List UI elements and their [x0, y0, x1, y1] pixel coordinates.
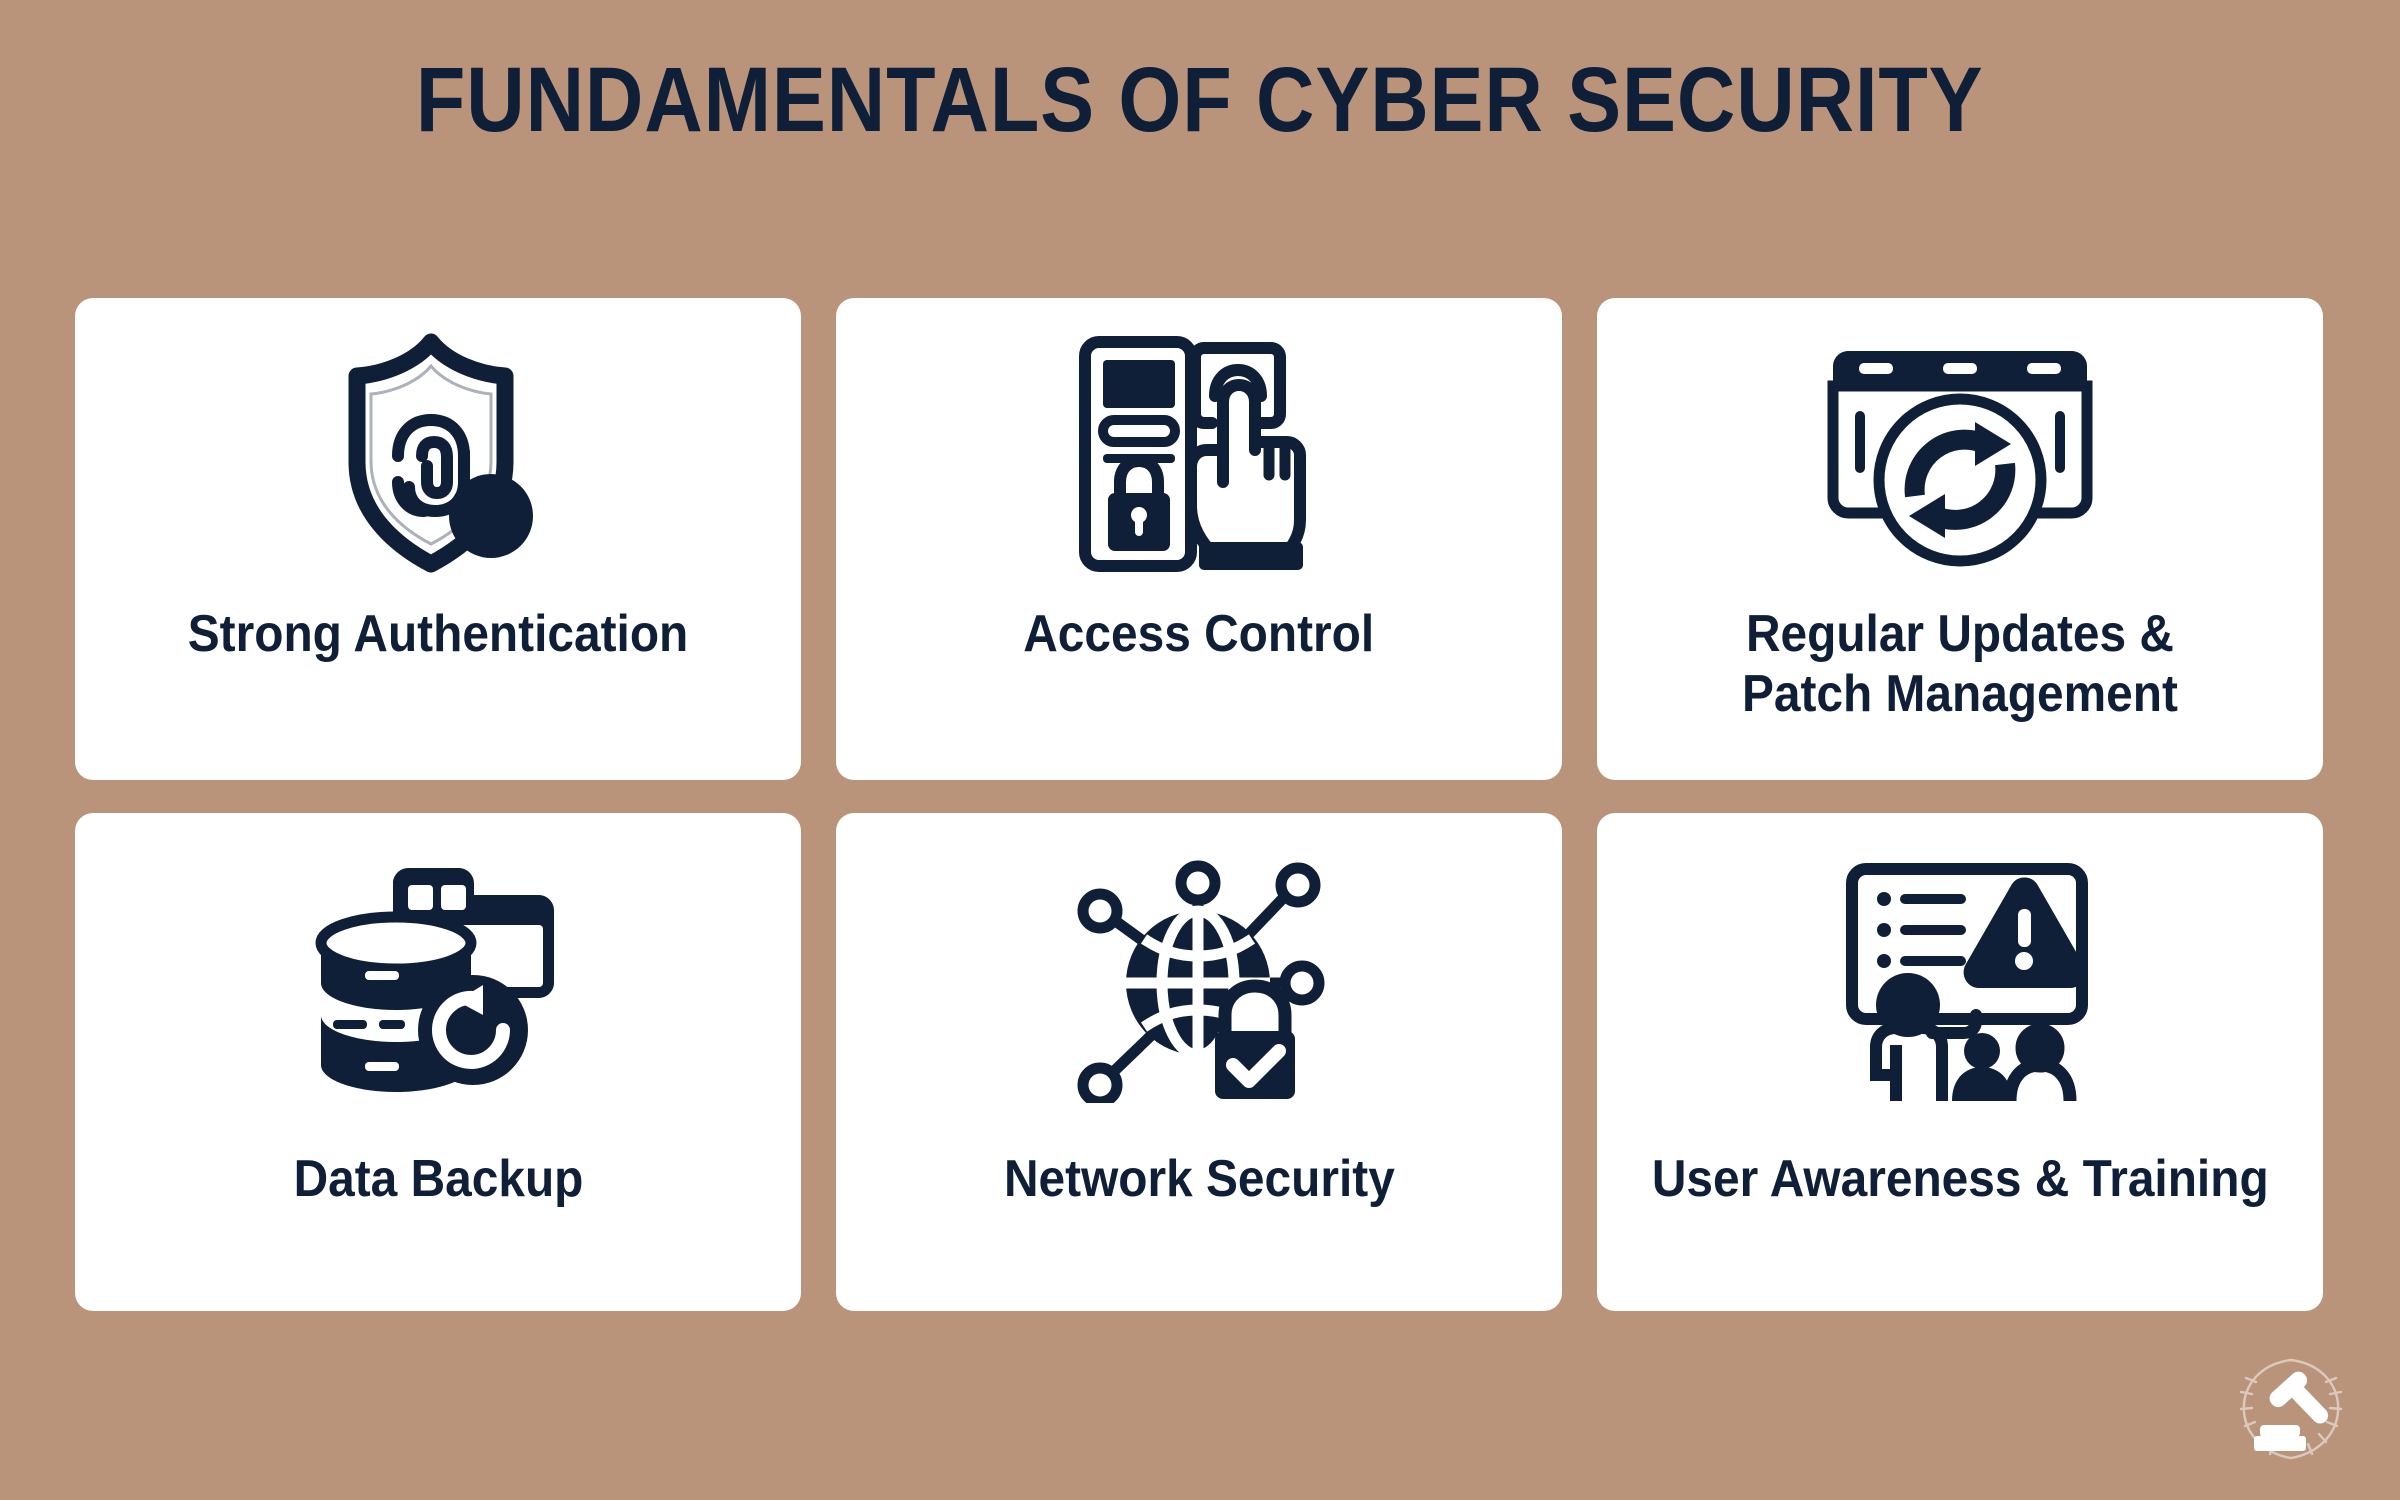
fundamentals-card-grid: Strong Authentication [75, 298, 2323, 1311]
page-title: FUNDAMENTALS OF CYBER SECURITY [416, 52, 1984, 150]
page-title-wrap: FUNDAMENTALS OF CYBER SECURITY [0, 52, 2400, 150]
card-label: Strong Authentication [164, 604, 712, 664]
infographic-page: FUNDAMENTALS OF CYBER SECURITY Strong Au… [0, 0, 2400, 1500]
card-label: Data Backup [269, 1149, 607, 1209]
card-user-awareness-training[interactable]: User Awareness & Training [1597, 813, 2323, 1311]
card-access-control[interactable]: Access Control [836, 298, 1562, 780]
gavel-laurel-wreath-logo [2230, 1348, 2352, 1470]
card-data-backup[interactable]: Data Backup [75, 813, 801, 1311]
database-restore-icon [307, 839, 569, 1119]
presenter-whiteboard-warning-icon [1826, 839, 2094, 1119]
card-label: Access Control [1000, 604, 1399, 664]
card-label: User Awareness & Training [1628, 1149, 2293, 1209]
browser-refresh-icon [1819, 320, 2101, 588]
access-keypad-hand-icon [1073, 320, 1325, 588]
card-network-security[interactable]: Network Security [836, 813, 1562, 1311]
card-regular-updates[interactable]: Regular Updates & Patch Management [1597, 298, 2323, 780]
globe-network-lock-icon [1070, 839, 1328, 1119]
card-label: Regular Updates & Patch Management [1718, 604, 2202, 725]
card-strong-authentication[interactable]: Strong Authentication [75, 298, 801, 780]
card-label: Network Security [980, 1149, 1419, 1209]
shield-fingerprint-icon [323, 320, 553, 588]
